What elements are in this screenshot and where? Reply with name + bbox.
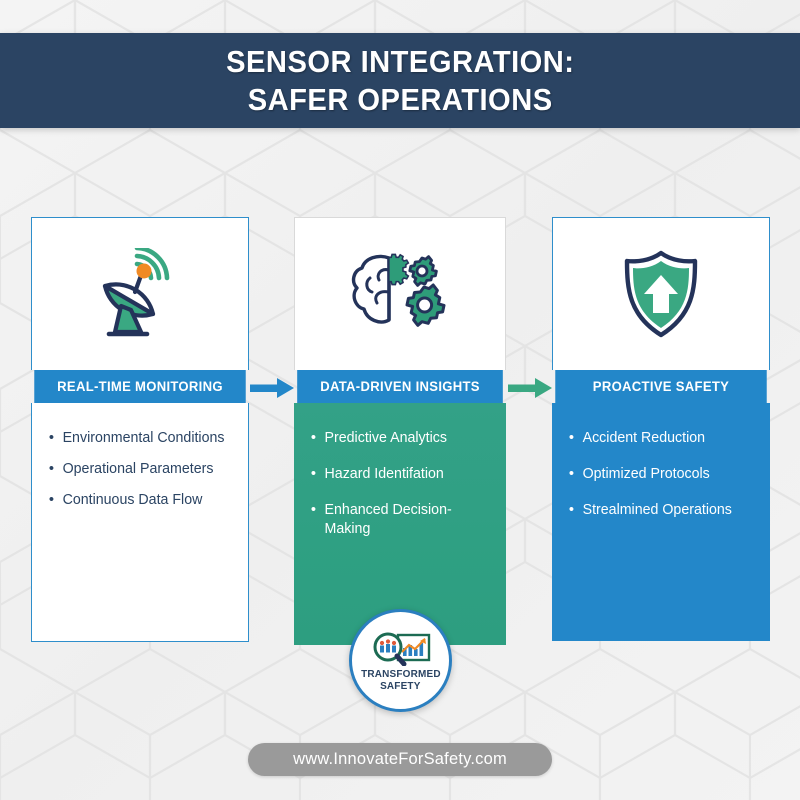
badge-transformed-safety[interactable]: TRANSFORMED SAFETY (349, 609, 452, 712)
bullet-list: Accident Reduction Optimized Protocols S… (566, 429, 756, 520)
card-real-time-monitoring[interactable]: REAL-TIME MONITORING Environmental Condi… (31, 217, 249, 642)
list-item: Accident Reduction (568, 429, 754, 448)
arrow-insights-to-safety (508, 377, 553, 399)
page-title-line-1: SENSOR INTEGRATION: (226, 43, 574, 81)
brain-gears-icon (348, 252, 452, 336)
badge-label-line-1: TRANSFORMED (361, 668, 441, 680)
gear-large (407, 285, 444, 325)
footer-url-text: www.InnovateForSafety.com (293, 750, 507, 769)
badge-label-line-2: SAFETY (380, 680, 420, 692)
card-label-proactive-safety: PROACTIVE SAFETY (555, 370, 766, 403)
magnifier-chart-icon (370, 632, 432, 666)
card-proactive-safety[interactable]: PROACTIVE SAFETY Accident Reduction Opti… (552, 217, 770, 641)
list-item: Enhanced Decision-Making (310, 501, 490, 539)
header-banner: SENSOR INTEGRATION: SAFER OPERATIONS (0, 33, 800, 128)
list-item: Optimized Protocols (568, 465, 754, 484)
card-icon-panel (294, 217, 506, 370)
list-item: Strealmined Operations (568, 501, 754, 520)
list-item: Operational Parameters (48, 460, 232, 479)
card-body-proactive-safety: Accident Reduction Optimized Protocols S… (552, 403, 770, 641)
gear-small (410, 257, 437, 286)
list-item: Environmental Conditions (48, 429, 232, 448)
list-item: Predictive Analytics (310, 429, 490, 448)
card-label-real-time-monitoring: REAL-TIME MONITORING (34, 370, 245, 403)
bullet-list: Environmental Conditions Operational Par… (46, 429, 234, 510)
card-data-driven-insights[interactable]: DATA-DRIVEN INSIGHTS Predictive Analytic… (294, 217, 506, 645)
card-icon-panel (552, 217, 770, 370)
card-label-data-driven-insights: DATA-DRIVEN INSIGHTS (297, 370, 503, 403)
card-body-real-time-monitoring: Environmental Conditions Operational Par… (31, 403, 249, 642)
list-item: Hazard Identifation (310, 465, 490, 484)
arrow-monitoring-to-insights (250, 377, 295, 399)
page-title-line-2: SAFER OPERATIONS (248, 81, 553, 119)
bullet-list: Predictive Analytics Hazard Identifation… (308, 429, 492, 539)
card-icon-panel (31, 217, 249, 370)
shield-arrow-up-icon (620, 249, 702, 339)
footer-url-pill[interactable]: www.InnovateForSafety.com (248, 743, 552, 776)
list-item: Continuous Data Flow (48, 491, 232, 510)
satellite-dish-icon (91, 248, 189, 340)
